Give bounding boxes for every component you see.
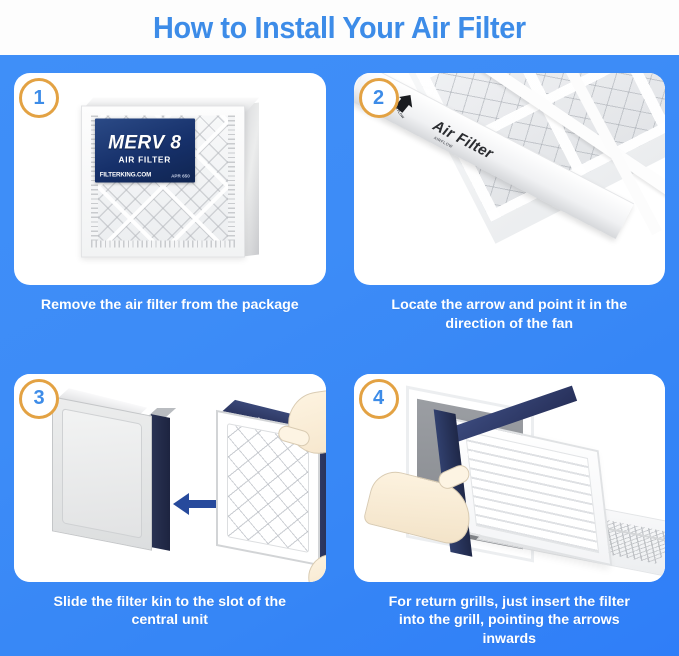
step-1: 1 xyxy=(0,55,340,356)
filter-front-face: FILTER KING MADE IN USA xyxy=(81,106,245,258)
unit-dark-slot xyxy=(151,414,170,551)
step-4-number-badge: 4 xyxy=(359,379,399,419)
unit-front-face xyxy=(52,396,152,550)
page-title: How to Install Your Air Filter xyxy=(153,10,526,46)
step-4-caption: For return grills, just insert the filte… xyxy=(354,593,666,649)
step-1-number-badge: 1 xyxy=(19,78,59,118)
unit-inner-panel xyxy=(62,408,142,539)
step-4-caption-line-2: into the grill, pointing the arrows xyxy=(362,611,658,630)
step-4-card: 4 »» xyxy=(354,374,666,582)
infographic-page: How to Install Your Air Filter 1 xyxy=(0,0,679,656)
label-subtitle: AIR FILTER xyxy=(95,155,195,165)
insert-direction-arrow-icon xyxy=(171,491,217,517)
filter-side-face xyxy=(243,103,259,257)
step-4-illustration: »» xyxy=(354,374,666,582)
filter-corner-closeup: AIR FLOW Air Filter AIRFLOW xyxy=(354,73,666,285)
step-4-caption-line-3: inwards xyxy=(362,630,658,649)
header-band: How to Install Your Air Filter xyxy=(0,0,679,55)
step-1-card: 1 xyxy=(14,73,326,285)
step-1-illustration: FILTER KING MADE IN USA xyxy=(14,73,326,285)
step-2-caption-line-2: direction of the fan xyxy=(362,315,658,334)
steps-grid: 1 xyxy=(0,55,679,656)
step-4-caption-line-1: For return grills, just insert the filte… xyxy=(362,593,658,612)
step-2-illustration: AIR FLOW Air Filter AIRFLOW xyxy=(354,73,666,285)
product-label: FILTER KING MADE IN USA xyxy=(95,119,195,183)
filter-pleats-right xyxy=(228,116,235,248)
louver-slats xyxy=(464,430,598,552)
label-footer: FILTERKING.COM APR 650 xyxy=(100,172,190,179)
step-3-card: 3 xyxy=(14,374,326,582)
step-1-caption: Remove the air filter from the package xyxy=(14,296,326,315)
brand-website: FILTERKING.COM xyxy=(100,172,151,179)
merv-rating: MERV 8 xyxy=(95,133,195,155)
step-2-caption: Locate the arrow and point it in the dir… xyxy=(354,296,666,333)
step-4: 4 »» xyxy=(340,356,679,656)
step-2: 2 AIR FLOW Air Filter AIRFLOW xyxy=(340,55,679,356)
step-3-caption-line-2: central unit xyxy=(22,611,318,630)
step-2-number-badge: 2 xyxy=(359,78,399,118)
step-2-caption-line-1: Locate the arrow and point it in the xyxy=(362,296,658,315)
step-3-caption: Slide the filter kin to the slot of the … xyxy=(14,593,326,630)
step-3-caption-line-1: Slide the filter kin to the slot of the xyxy=(22,593,318,612)
central-unit-slot xyxy=(52,396,172,544)
air-filter-product-photo: FILTER KING MADE IN USA xyxy=(81,98,259,261)
apr-code: APR 650 xyxy=(171,174,190,179)
step-3: 3 xyxy=(0,356,340,656)
filter-pleats-bottom xyxy=(91,241,235,248)
step-3-illustration: »» xyxy=(14,374,326,582)
air-filter-held: »» xyxy=(216,406,326,566)
step-3-number-badge: 3 xyxy=(19,379,59,419)
step-2-card: 2 AIR FLOW Air Filter AIRFLOW xyxy=(354,73,666,285)
